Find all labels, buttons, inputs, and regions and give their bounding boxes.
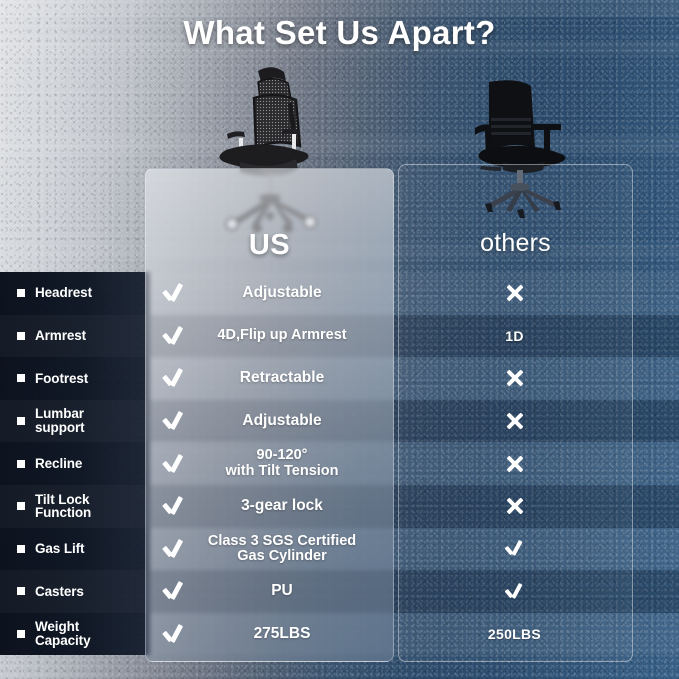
us-cell: Adjustable [150, 413, 398, 429]
us-cell: PU [150, 583, 398, 599]
us-cell: Adjustable [150, 285, 398, 301]
others-value: 1D [505, 328, 524, 344]
feature-label: Weight Capacity [35, 620, 90, 648]
us-value: Retractable [150, 370, 398, 386]
table-row: HeadrestAdjustable [0, 272, 679, 315]
check-icon [162, 453, 184, 475]
table-row: Gas LiftClass 3 SGS Certified Gas Cylind… [0, 528, 679, 571]
feature-cell: Armrest [0, 329, 150, 343]
table-row: Recline90-120° with Tilt Tension [0, 442, 679, 485]
others-cell [398, 539, 679, 558]
table-row: Armrest4D,Flip up Armrest1D [0, 315, 679, 358]
feature-cell: Footrest [0, 372, 150, 386]
check-icon [505, 582, 524, 601]
square-bullet-icon [17, 460, 25, 468]
column-header-others: others [398, 229, 633, 258]
square-bullet-icon [17, 587, 25, 595]
us-cell: 90-120° with Tilt Tension [150, 448, 398, 479]
feature-cell: Weight Capacity [0, 620, 150, 648]
table-row: Lumbar supportAdjustable [0, 400, 679, 443]
check-icon [162, 580, 184, 602]
feature-label: Tilt Lock Function [35, 493, 91, 521]
us-value: 90-120° with Tilt Tension [150, 448, 398, 479]
us-value: 3-gear lock [150, 498, 398, 514]
table-row: FootrestRetractable [0, 357, 679, 400]
us-mark [160, 282, 186, 304]
others-cell: 1D [398, 328, 679, 344]
others-cell [398, 582, 679, 601]
comparison-infographic: What Set Us Apart? [0, 0, 679, 679]
square-bullet-icon [17, 374, 25, 382]
square-bullet-icon [17, 417, 25, 425]
feature-label: Lumbar support [35, 407, 85, 435]
comparison-table: HeadrestAdjustableArmrest4D,Flip up Armr… [0, 272, 679, 655]
us-cell: 275LBS [150, 626, 398, 642]
cross-icon [505, 411, 525, 431]
others-cell [398, 496, 679, 516]
us-value: 4D,Flip up Armrest [150, 328, 398, 343]
square-bullet-icon [17, 502, 25, 510]
us-value: PU [150, 583, 398, 599]
cross-icon [505, 496, 525, 516]
table-row: Weight Capacity275LBS250LBS [0, 613, 679, 656]
us-mark [160, 580, 186, 602]
us-mark [160, 367, 186, 389]
page-title: What Set Us Apart? [0, 14, 679, 52]
others-value: 250LBS [488, 626, 541, 642]
us-value: Adjustable [150, 413, 398, 429]
us-value: Class 3 SGS Certified Gas Cylinder [150, 534, 398, 565]
feature-cell: Casters [0, 585, 150, 599]
check-icon [162, 410, 184, 432]
feature-cell: Headrest [0, 286, 150, 300]
check-icon [162, 325, 184, 347]
us-mark [160, 410, 186, 432]
us-cell: Class 3 SGS Certified Gas Cylinder [150, 534, 398, 565]
check-icon [162, 623, 184, 645]
us-cell: 4D,Flip up Armrest [150, 328, 398, 343]
check-icon [505, 539, 524, 558]
others-cell [398, 454, 679, 474]
us-mark [160, 453, 186, 475]
feature-cell: Recline [0, 457, 150, 471]
others-cell [398, 368, 679, 388]
us-value: Adjustable [150, 285, 398, 301]
us-cell: Retractable [150, 370, 398, 386]
us-mark [160, 325, 186, 347]
us-cell: 3-gear lock [150, 498, 398, 514]
others-cell [398, 283, 679, 303]
table-row: CastersPU [0, 570, 679, 613]
feature-label: Armrest [35, 329, 86, 343]
us-mark [160, 623, 186, 645]
feature-label: Casters [35, 585, 84, 599]
square-bullet-icon [17, 332, 25, 340]
others-cell: 250LBS [398, 626, 679, 642]
others-cell [398, 411, 679, 431]
square-bullet-icon [17, 630, 25, 638]
feature-label: Gas Lift [35, 542, 84, 556]
cross-icon [505, 454, 525, 474]
us-mark [160, 495, 186, 517]
feature-cell: Tilt Lock Function [0, 493, 150, 521]
column-header-us: US [145, 229, 394, 262]
check-icon [162, 282, 184, 304]
us-mark [160, 538, 186, 560]
table-row: Tilt Lock Function3-gear lock [0, 485, 679, 528]
feature-cell: Gas Lift [0, 542, 150, 556]
us-value: 275LBS [150, 626, 398, 642]
cross-icon [505, 368, 525, 388]
feature-label: Footrest [35, 372, 88, 386]
cross-icon [505, 283, 525, 303]
square-bullet-icon [17, 545, 25, 553]
feature-cell: Lumbar support [0, 407, 150, 435]
check-icon [162, 495, 184, 517]
check-icon [162, 538, 184, 560]
square-bullet-icon [17, 289, 25, 297]
feature-label: Headrest [35, 286, 92, 300]
feature-label: Recline [35, 457, 82, 471]
check-icon [162, 367, 184, 389]
